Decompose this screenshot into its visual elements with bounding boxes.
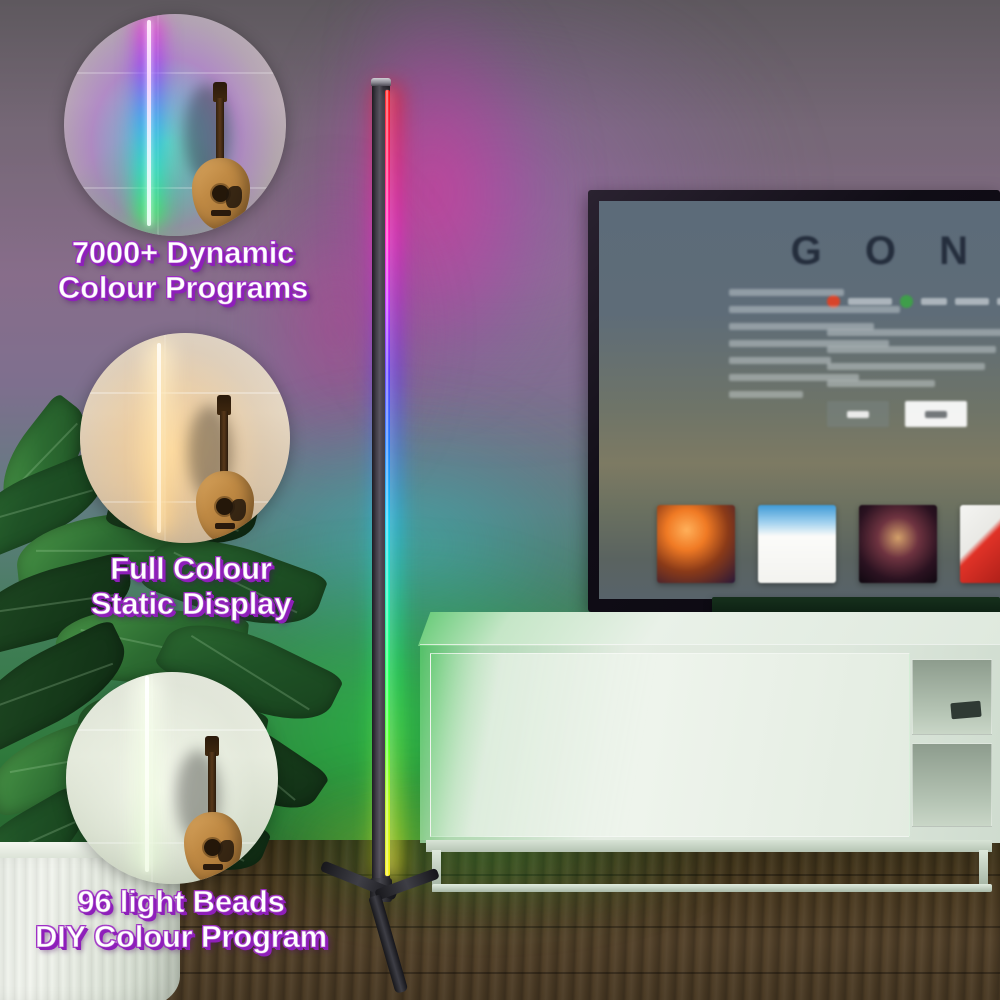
console-cabinet-door [430,653,910,837]
console-floor-rail [432,884,992,892]
console-shelf-upper [912,659,992,735]
acoustic-guitar [196,391,266,543]
tv-button-secondary [827,401,889,427]
tv-app-tiles [657,505,1000,583]
tv-tile-orange [657,505,735,583]
feature-label-line1: 7000+ Dynamic [72,235,294,270]
feature-label-line1: Full Colour [110,551,271,586]
feature-label-static-display: Full Colour Static Display [36,552,346,621]
lamp-top-cap [371,78,391,86]
feature-label-line2: Static Display [36,587,346,622]
tv-button-primary [905,401,967,427]
feature-label-dynamic-programs: 7000+ Dynamic Colour Programs [10,236,356,305]
feature-label-line1: 96 light Beads [77,884,284,919]
tv-tile-red [960,505,1000,583]
tv-tile-dark-purple [859,505,937,583]
tv-title-text: G O N [791,229,984,274]
feature-circle-dynamic-programs [64,14,286,236]
feature-label-light-beads: 96 light Beads DIY Colour Program [6,885,356,954]
console-body [420,644,1000,843]
feature-circle-light-beads [66,672,278,884]
acoustic-guitar [192,70,262,230]
feature-label-line2: DIY Colour Program [6,920,356,955]
console-shelf-lower [912,743,992,827]
product-feature-image: G O N [0,0,1000,1000]
console-top-surface [418,612,1000,646]
remote-control [950,701,981,720]
rgb-corner-floor-lamp [364,78,398,888]
tv-right-text-block [827,329,1000,397]
television: G O N [588,190,1000,612]
feature-circle-static-display [80,333,290,543]
lamp-led-highlight [386,90,388,876]
tv-dialog-buttons [827,401,967,427]
tv-tile-white-blue [758,505,836,583]
console-base [426,840,992,852]
tv-console [418,612,1000,880]
feature-label-line2: Colour Programs [10,271,356,306]
tv-screen: G O N [599,201,1000,599]
acoustic-guitar [184,734,254,884]
